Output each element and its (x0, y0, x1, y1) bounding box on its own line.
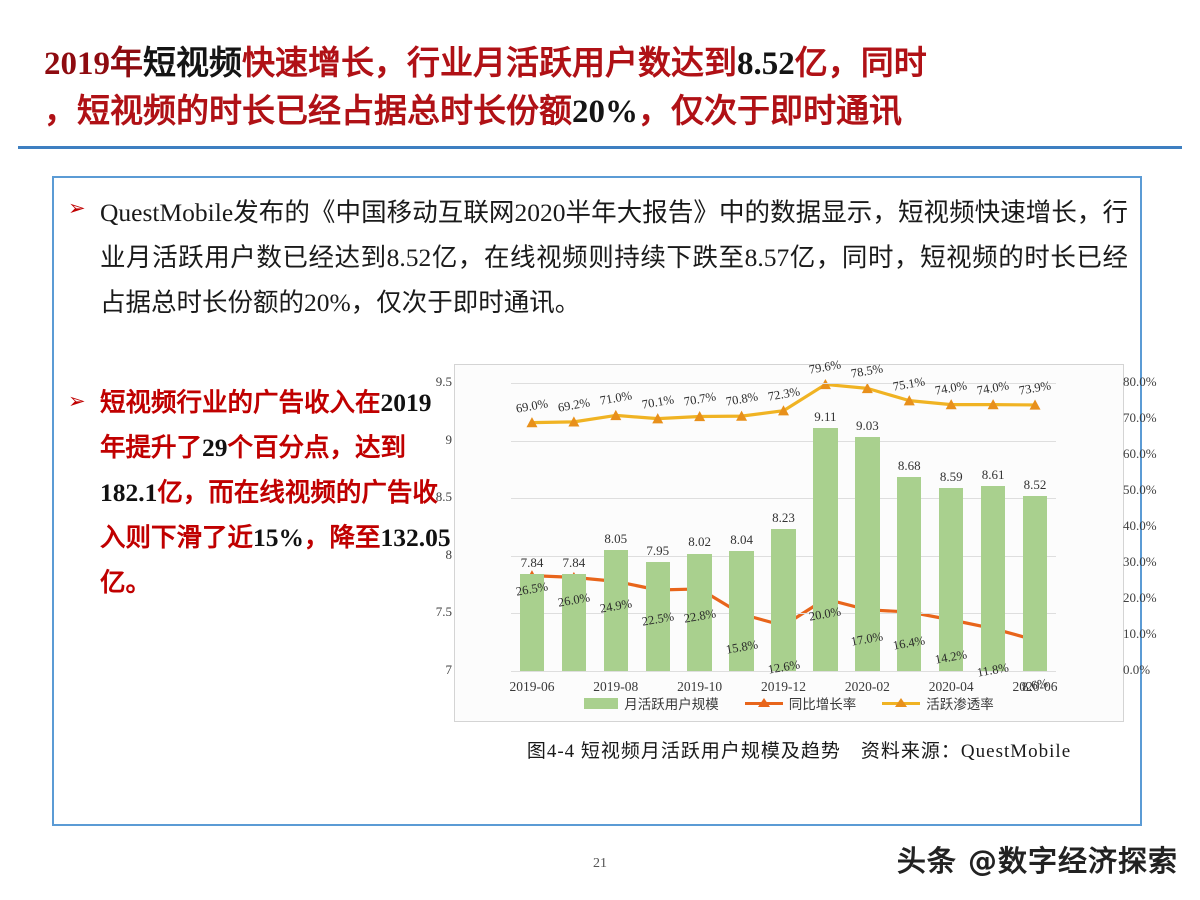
title-seg-keyword: 短视频 (143, 46, 242, 82)
p2-seg-3: 个百分点，达到 (228, 433, 407, 462)
chart-marker (568, 416, 579, 426)
p2-seg-1: 短视频行业的广告收入在 (100, 388, 381, 417)
content-box: ➢ QuestMobile发布的《中国移动互联网2020半年大报告》中的数据显示… (52, 176, 1142, 826)
chart-bar (939, 488, 963, 671)
title-seg-body1: 快速增长，行业月活跃用户数达到 (242, 46, 737, 82)
page-title: 2019年短视频快速增长，行业月活跃用户数达到8.52亿，同时 ，短视频的时长已… (44, 40, 1164, 136)
chart-marker (610, 410, 621, 420)
y-axis-tick-right: 80.0% (1123, 374, 1183, 390)
chart-plot-area: 9.598.587.5780.0%70.0%60.0%50.0%40.0%30.… (511, 383, 1056, 671)
title-seg-body4: ，仅次于即时通讯 (638, 94, 902, 130)
title-divider (18, 146, 1182, 149)
y-axis-tick-right: 60.0% (1123, 446, 1183, 462)
chart-bar (562, 574, 586, 671)
y-axis-tick-right: 50.0% (1123, 482, 1183, 498)
bar-value-label: 8.02 (676, 534, 724, 550)
title-line-2: ，短视频的时长已经占据总时长份额20%，仅次于即时通讯 (44, 88, 1164, 136)
bullet-arrow-icon: ➢ (68, 199, 90, 217)
bullet-arrow-icon: ➢ (68, 392, 90, 410)
legend-item-growth: 同比增长率 (745, 693, 857, 713)
grid-line (511, 441, 1056, 442)
p2-num-2: 29 (202, 433, 228, 462)
legend-label: 同比增长率 (789, 693, 857, 713)
point-value-label: 72.3% (757, 382, 811, 406)
bar-value-label: 7.95 (634, 543, 682, 559)
y-axis-tick-left: 8 (410, 547, 452, 563)
chart-marker (820, 379, 831, 389)
p2-seg-6: 亿。 (100, 568, 151, 597)
chart-marker (652, 413, 663, 423)
y-axis-tick-left: 9.5 (410, 374, 452, 390)
y-axis-tick-right: 70.0% (1123, 410, 1183, 426)
bar-value-label: 8.68 (885, 458, 933, 474)
title-seg-body2: 亿，同时 (795, 46, 927, 82)
y-axis-tick-right: 0.0% (1123, 662, 1183, 678)
grid-line (511, 498, 1056, 499)
y-axis-tick-left: 9 (410, 432, 452, 448)
bar-value-label: 9.03 (843, 418, 891, 434)
chart-bar (981, 486, 1005, 671)
chart-marker (736, 411, 747, 421)
legend-swatch-icon (584, 698, 618, 709)
legend-line-icon (745, 698, 783, 709)
bar-value-label: 7.84 (508, 555, 556, 571)
legend-label: 活跃渗透率 (926, 693, 994, 713)
watermark: 头条 @数字经济探索 (897, 838, 1178, 880)
chart-marker (778, 405, 789, 415)
y-axis-tick-left: 7 (410, 662, 452, 678)
chart-legend: 月活跃用户规模 同比增长率 活跃渗透率 (455, 693, 1123, 713)
chart-marker (1030, 399, 1041, 409)
p2-seg-2: 年提升了 (100, 433, 202, 462)
p2-num-4: 15% (253, 523, 304, 552)
chart-marker (904, 395, 915, 405)
title-seg-number2: 20% (572, 94, 638, 130)
legend-line-icon (882, 698, 920, 709)
y-axis-tick-left: 7.5 (410, 604, 452, 620)
paragraph-one: QuestMobile发布的《中国移动互联网2020半年大报告》中的数据显示，短… (100, 190, 1128, 325)
title-seg-year: 2019年 (44, 46, 143, 82)
chart-bar (813, 428, 837, 671)
bar-value-label: 7.84 (550, 555, 598, 571)
title-line-1: 2019年短视频快速增长，行业月活跃用户数达到8.52亿，同时 (44, 40, 1164, 88)
title-seg-number1: 8.52 (737, 46, 795, 82)
chart-marker (988, 399, 999, 409)
paragraph-two: 短视频行业的广告收入在2019年提升了29个百分点，达到182.1亿，而在线视频… (100, 380, 455, 605)
chart-marker (694, 411, 705, 421)
y-axis-tick-right: 20.0% (1123, 590, 1183, 606)
p2-num-1: 2019 (381, 388, 432, 417)
y-axis-tick-right: 10.0% (1123, 626, 1183, 642)
p2-num-3: 182.1 (100, 478, 157, 507)
slide-root: 2019年短视频快速增长，行业月活跃用户数达到8.52亿，同时 ，短视频的时长已… (0, 0, 1200, 900)
bar-value-label: 8.04 (718, 532, 766, 548)
chart-bar (1023, 496, 1047, 671)
bar-value-label: 8.05 (592, 531, 640, 547)
bar-value-label: 8.52 (1011, 477, 1059, 493)
chart-marker (862, 383, 873, 393)
title-seg-body3: ，短视频的时长已经占据总时长份额 (44, 94, 572, 130)
chart-marker (946, 399, 957, 409)
legend-item-penetration: 活跃渗透率 (882, 693, 994, 713)
bar-value-label: 9.11 (801, 409, 849, 425)
y-axis-tick-right: 40.0% (1123, 518, 1183, 534)
chart-panel: 9.598.587.5780.0%70.0%60.0%50.0%40.0%30.… (454, 364, 1124, 722)
bar-value-label: 8.23 (760, 510, 808, 526)
legend-item-bars: 月活跃用户规模 (584, 693, 719, 713)
bar-value-label: 8.61 (969, 467, 1017, 483)
chart-caption: 图4-4 短视频月活跃用户规模及趋势 资料来源：QuestMobile (454, 736, 1144, 763)
chart-bar (771, 529, 795, 671)
y-axis-tick-left: 8.5 (410, 489, 452, 505)
bar-value-label: 8.59 (927, 469, 975, 485)
chart-marker (526, 417, 537, 427)
p2-seg-5: ，降至 (304, 523, 381, 552)
y-axis-tick-right: 30.0% (1123, 554, 1183, 570)
legend-label: 月活跃用户规模 (624, 693, 719, 713)
